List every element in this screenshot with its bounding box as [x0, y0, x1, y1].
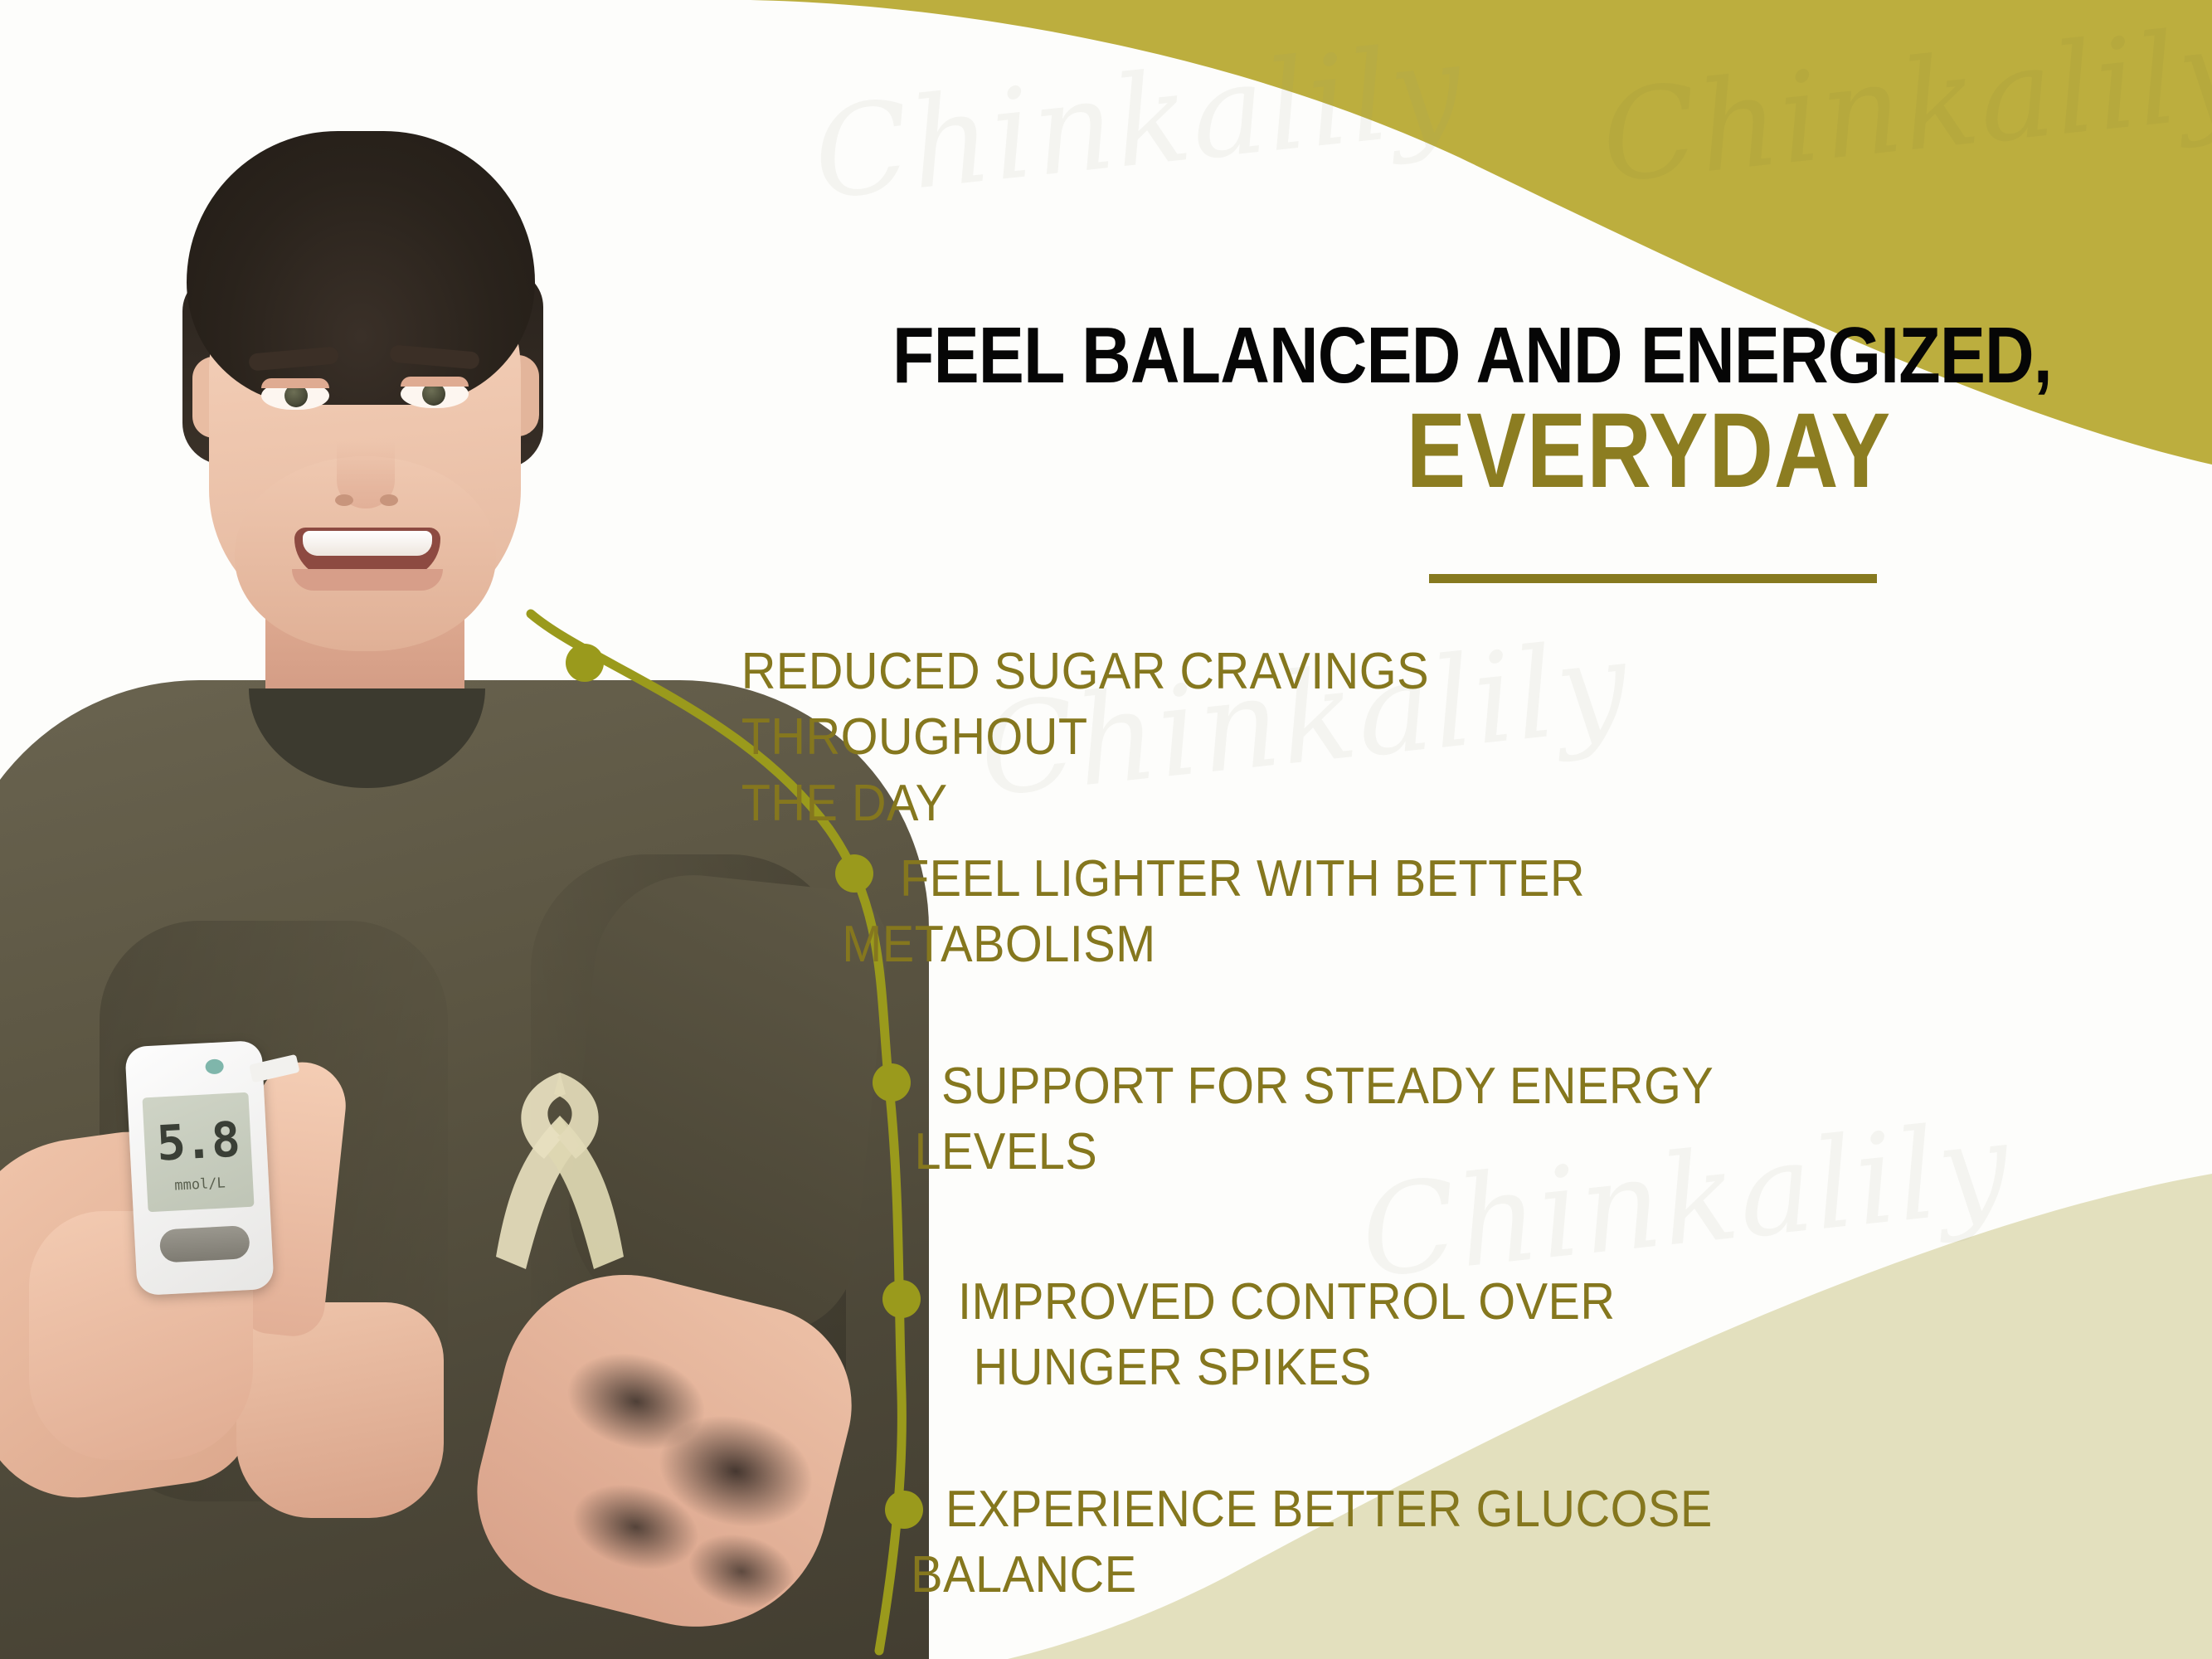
bullet-dot — [885, 1491, 923, 1529]
bullet-dot — [873, 1063, 911, 1102]
benefit-item-3: SUPPORT FOR STEADY ENERGY LEVELS — [941, 1053, 1806, 1185]
benefit-line: IMPROVED CONTROL OVER — [958, 1273, 1616, 1331]
poster-canvas: Chinkalily Chinkalily Chinkalily Chinkal… — [0, 0, 2212, 1659]
benefit-line: METABOLISM — [842, 912, 1787, 977]
benefit-line: HUNGER SPIKES — [974, 1335, 1822, 1400]
benefit-item-2: FEEL LIGHTER WITH BETTER METABOLISM — [900, 846, 1787, 978]
benefit-line: REDUCED SUGAR CRAVINGS THROUGHOUT — [741, 639, 1767, 771]
benefit-line: FEEL LIGHTER WITH BETTER — [900, 850, 1585, 907]
bullet-dot — [835, 854, 873, 893]
benefit-item-5: EXPERIENCE BETTER GLUCOSE BALANCE — [946, 1477, 1825, 1608]
benefit-item-4: IMPROVED CONTROL OVER HUNGER SPIKES — [958, 1269, 1822, 1401]
bullet-dot — [566, 644, 604, 682]
benefit-line: BALANCE — [911, 1542, 1825, 1608]
benefit-line: EXPERIENCE BETTER GLUCOSE — [946, 1481, 1713, 1538]
benefit-line: THE DAY — [741, 771, 1767, 836]
bullet-dot — [882, 1280, 921, 1318]
benefit-line: SUPPORT FOR STEADY ENERGY — [941, 1058, 1714, 1115]
benefit-item-1: REDUCED SUGAR CRAVINGS THROUGHOUT THE DA… — [672, 639, 1767, 836]
benefit-line: LEVELS — [914, 1119, 1805, 1185]
